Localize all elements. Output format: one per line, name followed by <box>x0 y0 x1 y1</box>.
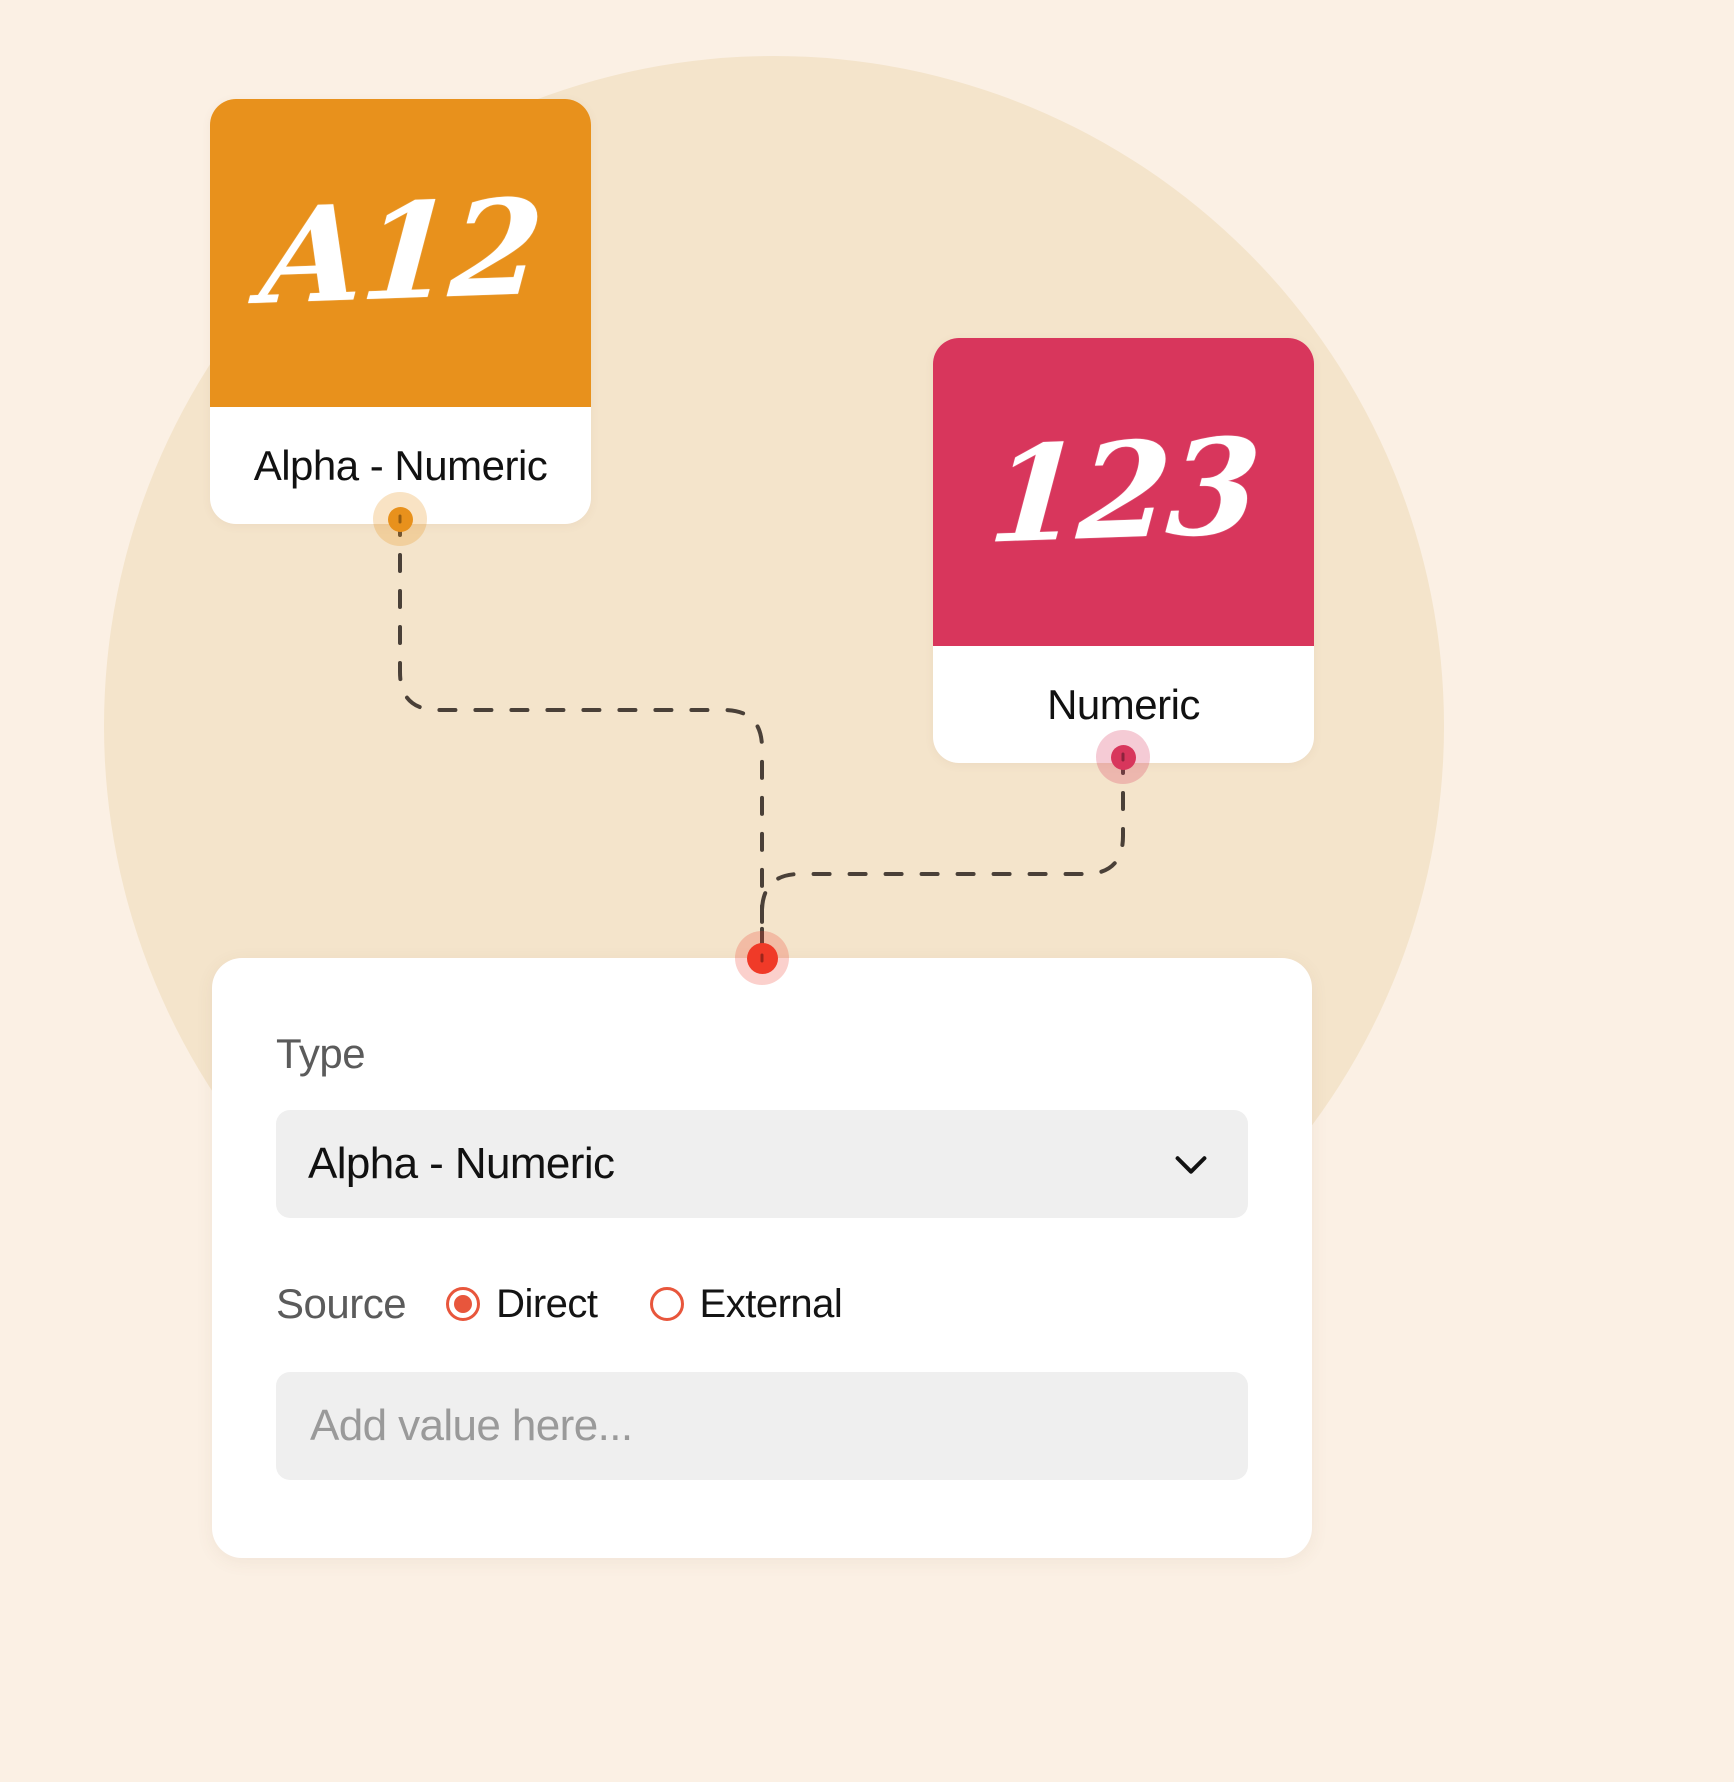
radio-selected-icon[interactable] <box>446 1287 480 1321</box>
screenshot-root: A12 Alpha - Numeric 123 Numeric Type Alp… <box>0 0 1734 1782</box>
radio-unselected-icon[interactable] <box>650 1287 684 1321</box>
source-radio-direct-label: Direct <box>496 1282 597 1327</box>
type-select-value: Alpha - Numeric <box>308 1139 1168 1189</box>
source-radio-external-label: External <box>700 1282 843 1327</box>
type-card-swatch-numeric: 123 <box>933 338 1314 646</box>
type-card-alpha-numeric[interactable]: A12 Alpha - Numeric <box>210 99 591 524</box>
source-field-row: Source Direct External <box>276 1280 1248 1328</box>
illustration-canvas: A12 Alpha - Numeric 123 Numeric Type Alp… <box>0 0 1734 1782</box>
field-config-panel: Type Alpha - Numeric Source Direct Exter… <box>212 958 1312 1558</box>
source-field-label: Source <box>276 1280 406 1328</box>
connector-pin <box>399 515 402 524</box>
source-radio-direct[interactable]: Direct <box>446 1282 597 1327</box>
wire-numeric-to-form <box>762 757 1123 958</box>
type-card-numeric[interactable]: 123 Numeric <box>933 338 1314 763</box>
chevron-down-icon[interactable] <box>1168 1141 1214 1187</box>
wire-alpha-to-form <box>400 519 762 958</box>
connector-node-alpha-numeric[interactable] <box>373 492 427 546</box>
source-radio-external[interactable]: External <box>650 1282 843 1327</box>
type-card-swatch-alpha-numeric: A12 <box>210 99 591 407</box>
value-input-placeholder: Add value here... <box>310 1401 632 1451</box>
connector-dot-icon <box>747 943 778 974</box>
connector-dot-icon <box>388 507 413 532</box>
connector-pin <box>1122 753 1125 762</box>
connector-dot-icon <box>1111 745 1136 770</box>
connector-node-form[interactable] <box>735 931 789 985</box>
type-field-label: Type <box>276 1030 1248 1078</box>
value-input[interactable]: Add value here... <box>276 1372 1248 1480</box>
type-card-glyph-numeric: 123 <box>985 421 1262 562</box>
type-select[interactable]: Alpha - Numeric <box>276 1110 1248 1218</box>
connector-pin <box>761 954 764 963</box>
type-card-glyph-alpha-numeric: A12 <box>257 182 544 324</box>
connector-node-numeric[interactable] <box>1096 730 1150 784</box>
